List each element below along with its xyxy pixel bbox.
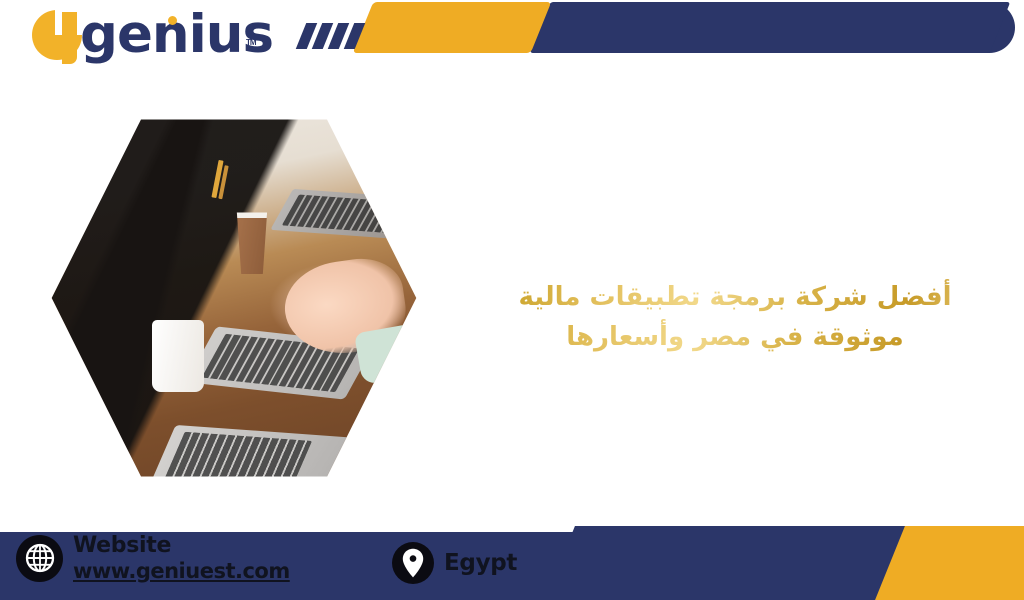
pencils-icon	[212, 160, 224, 198]
headline-line-2: موثوقة في مصر وأسعارها	[500, 318, 970, 358]
map-pin-icon	[392, 542, 434, 584]
footer-website-label: Website	[73, 534, 290, 558]
headline-line-1: أفضل شركة برمجة تطبيقات مالية	[500, 278, 970, 318]
logo-i-dot-icon	[168, 16, 177, 25]
footer-location-item[interactable]: Egypt	[392, 542, 517, 584]
logo-wordmark: genius TM	[80, 6, 273, 64]
footer-website-url[interactable]: www.geniuest.com	[73, 560, 290, 583]
sleeve-cuff	[354, 323, 420, 385]
footer-website-text: Website www.geniuest.com	[73, 534, 290, 582]
laptop-keyboard-back	[270, 189, 420, 240]
hero-hexagon-image	[48, 112, 420, 484]
globe-icon	[16, 535, 63, 582]
logo-wordmark-text: genius	[80, 4, 273, 65]
top-banner-navy-shape	[530, 2, 1011, 53]
coffee-cup	[234, 212, 270, 274]
top-banner-yellow-shape	[353, 2, 552, 53]
page-title: أفضل شركة برمجة تطبيقات مالية موثوقة في …	[500, 278, 970, 357]
four-slash-bars-icon	[301, 23, 360, 49]
hero-photo	[48, 112, 420, 484]
footer-website-item[interactable]: Website www.geniuest.com	[16, 534, 290, 582]
footer-country-label: Egypt	[444, 550, 517, 576]
brand-logo[interactable]: genius TM	[30, 4, 360, 66]
footer-bar: Website www.geniuest.com Egypt	[0, 500, 1024, 600]
laptop-keyboard-front	[150, 425, 375, 484]
white-mug	[152, 320, 204, 392]
logo-trademark: TM	[246, 14, 256, 72]
